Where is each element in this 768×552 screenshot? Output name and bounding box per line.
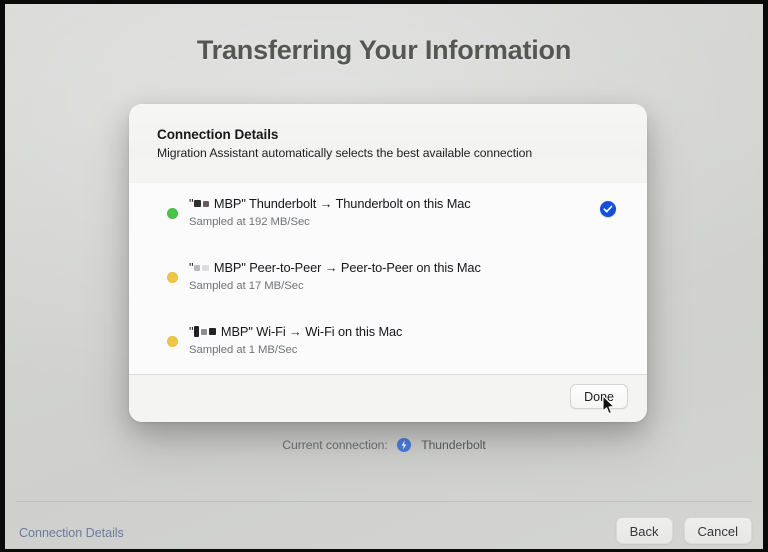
connection-row[interactable]: " MBP" Thunderbolt → Thunderbolt on this… xyxy=(129,183,647,247)
connection-name-suffix: MBP" Thunderbolt → Thunderbolt on this M… xyxy=(210,196,470,211)
connection-name-suffix: MBP" Peer-to-Peer → Peer-to-Peer on this… xyxy=(210,260,480,275)
connection-name-prefix: " xyxy=(189,324,193,339)
connection-name-prefix: " xyxy=(189,196,193,211)
current-connection-status: Current connection: Thunderbolt xyxy=(5,438,763,452)
redacted-block xyxy=(194,326,199,337)
dialog-subtitle: Migration Assistant automatically select… xyxy=(157,146,619,160)
redacted-block xyxy=(194,265,200,271)
done-button[interactable]: Done xyxy=(570,384,628,409)
cancel-button[interactable]: Cancel xyxy=(684,517,752,544)
page-title: Transferring Your Information xyxy=(5,35,763,66)
connection-row[interactable]: " MBP" Peer-to-Peer → Peer-to-Peer on th… xyxy=(129,247,647,311)
connection-name-suffix: MBP" Wi-Fi → Wi-Fi on this Mac xyxy=(217,324,402,339)
dialog-title: Connection Details xyxy=(157,127,619,142)
connection-sample-rate: Sampled at 1 MB/Sec xyxy=(189,344,587,356)
thunderbolt-icon xyxy=(397,438,411,452)
connection-name-prefix: " xyxy=(189,260,193,275)
screen-content: Transferring Your Information Connection… xyxy=(5,4,763,549)
connection-status-dot xyxy=(167,208,178,219)
dialog-header: Connection Details Migration Assistant a… xyxy=(129,104,647,159)
current-connection-value: Thunderbolt xyxy=(421,438,486,452)
connection-name: " MBP" Wi-Fi → Wi-Fi on this Mac xyxy=(189,323,587,340)
connection-text: " MBP" Wi-Fi → Wi-Fi on this MacSampled … xyxy=(189,323,647,356)
bottom-divider xyxy=(16,501,752,502)
current-connection-label: Current connection: xyxy=(282,438,387,452)
redacted-block xyxy=(209,328,216,335)
screen-bezel: Transferring Your Information Connection… xyxy=(0,0,768,552)
redacted-block xyxy=(203,201,209,207)
redacted-block xyxy=(201,329,207,335)
connection-name: " MBP" Thunderbolt → Thunderbolt on this… xyxy=(189,195,587,212)
connection-list[interactable]: " MBP" Thunderbolt → Thunderbolt on this… xyxy=(129,182,647,375)
connection-details-dialog: Connection Details Migration Assistant a… xyxy=(129,104,647,422)
connection-name: " MBP" Peer-to-Peer → Peer-to-Peer on th… xyxy=(189,259,587,276)
dialog-footer: Done xyxy=(129,374,647,422)
checkmark-icon[interactable] xyxy=(600,201,616,217)
redacted-block xyxy=(202,265,209,271)
connection-status-dot xyxy=(167,272,178,283)
connection-text: " MBP" Peer-to-Peer → Peer-to-Peer on th… xyxy=(189,259,647,292)
connection-text: " MBP" Thunderbolt → Thunderbolt on this… xyxy=(189,195,647,228)
back-button[interactable]: Back xyxy=(616,517,673,544)
connection-sample-rate: Sampled at 192 MB/Sec xyxy=(189,216,587,228)
bottom-button-group: Back Cancel xyxy=(616,517,752,544)
connection-status-dot xyxy=(167,336,178,347)
connection-sample-rate: Sampled at 17 MB/Sec xyxy=(189,280,587,292)
redacted-block xyxy=(194,200,201,207)
connection-row[interactable]: " MBP" Wi-Fi → Wi-Fi on this MacSampled … xyxy=(129,311,647,375)
connection-details-link[interactable]: Connection Details xyxy=(19,526,124,540)
